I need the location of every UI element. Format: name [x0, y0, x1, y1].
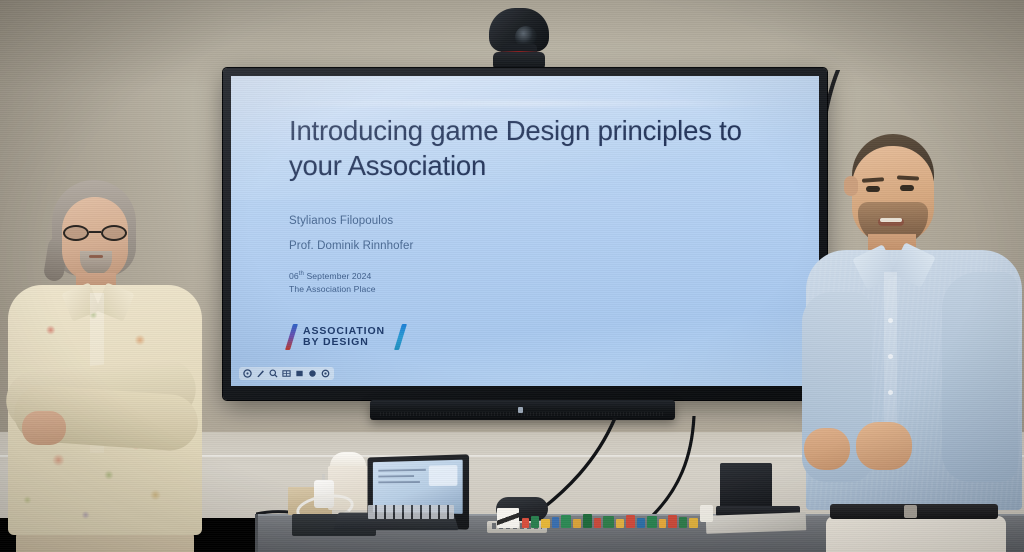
lego-piece [561, 515, 571, 528]
lego-piece [647, 516, 657, 528]
white-lego-brick [700, 505, 713, 522]
right-presenter-hand-left [804, 428, 850, 470]
left-presenter-mouth [89, 255, 103, 258]
target-icon[interactable] [243, 369, 252, 378]
paper-sheet [706, 512, 807, 533]
lego-piece [603, 516, 614, 528]
settings-icon[interactable] [321, 369, 330, 378]
belt-buckle [904, 505, 917, 518]
right-presenter-shirt-placket [884, 272, 897, 430]
display-screen: Introducing game Design principles to yo… [231, 76, 819, 386]
lego-piece [541, 519, 550, 528]
lego-piece [594, 518, 601, 528]
lego-piece [637, 518, 645, 528]
right-presenter-arm-right [942, 272, 1018, 482]
slide-date: 06th September 2024 [289, 270, 819, 283]
lego-piece [668, 515, 677, 528]
lego-piece [552, 517, 559, 528]
shirt-button [888, 318, 893, 323]
slide-presenter-list: Stylianos Filopoulos Prof. Dominik Rinnh… [289, 215, 819, 252]
slide-date-day: 06 [289, 271, 299, 281]
slide-presenter-2: Prof. Dominik Rinnhofer [289, 240, 819, 252]
pen-icon[interactable] [256, 369, 265, 378]
logo-line-2: BY DESIGN [303, 337, 385, 348]
left-presenter-hand [22, 411, 66, 445]
right-presenter-eye-left [866, 186, 880, 192]
soundbar-led-icon [518, 407, 523, 413]
lego-piece [573, 519, 581, 528]
presentation-slide: Introducing game Design principles to yo… [231, 76, 819, 386]
presenter-left [0, 175, 210, 552]
association-by-design-logo: ASSOCIATION BY DESIGN [289, 322, 819, 352]
magnifier-icon[interactable] [269, 369, 278, 378]
right-presenter-ear [844, 176, 858, 196]
slide-title: Introducing game Design principles to yo… [289, 114, 759, 183]
flat-screen-display: Introducing game Design principles to yo… [223, 68, 827, 400]
circle-icon[interactable] [308, 369, 317, 378]
slide-date-month-year: September 2024 [304, 271, 371, 281]
screenshot-scene: Introducing game Design principles to yo… [0, 0, 1024, 552]
lego-piece [626, 515, 635, 528]
lego-piece [689, 518, 698, 528]
ptz-camera [487, 8, 551, 70]
presentation-overlay-toolbar[interactable] [239, 367, 334, 380]
logo-right-slash-icon [394, 324, 407, 350]
glasses-icon [62, 225, 130, 241]
slide-presenter-1: Stylianos Filopoulos [289, 215, 819, 227]
slide-meta: 06th September 2024 The Association Plac… [289, 270, 819, 295]
logo-wordmark: ASSOCIATION BY DESIGN [303, 326, 385, 348]
shirt-button [888, 390, 893, 395]
logo-left-slash-icon [285, 324, 298, 350]
lego-piece [616, 519, 624, 528]
slide-venue: The Association Place [289, 283, 819, 296]
right-presenter-eye-right [900, 185, 914, 191]
square-icon[interactable] [295, 369, 304, 378]
grid-icon[interactable] [282, 369, 291, 378]
laptop-dialog [429, 465, 458, 486]
lego-piece [522, 518, 529, 528]
lego-piece [679, 517, 687, 528]
right-presenter-teeth [880, 218, 902, 222]
right-presenter-hand-right [856, 422, 912, 470]
table-left-side [255, 514, 258, 552]
lego-piece [659, 519, 666, 528]
lego-piece [531, 516, 539, 528]
lego-piece [583, 514, 592, 528]
soundbar [370, 400, 675, 420]
marker-organizer [720, 463, 772, 509]
laptop-keyboard [368, 505, 454, 519]
right-presenter-trousers [826, 516, 1006, 552]
presenter-right [800, 132, 1024, 552]
lego-cow-figure [497, 508, 519, 528]
shirt-button [888, 354, 893, 359]
